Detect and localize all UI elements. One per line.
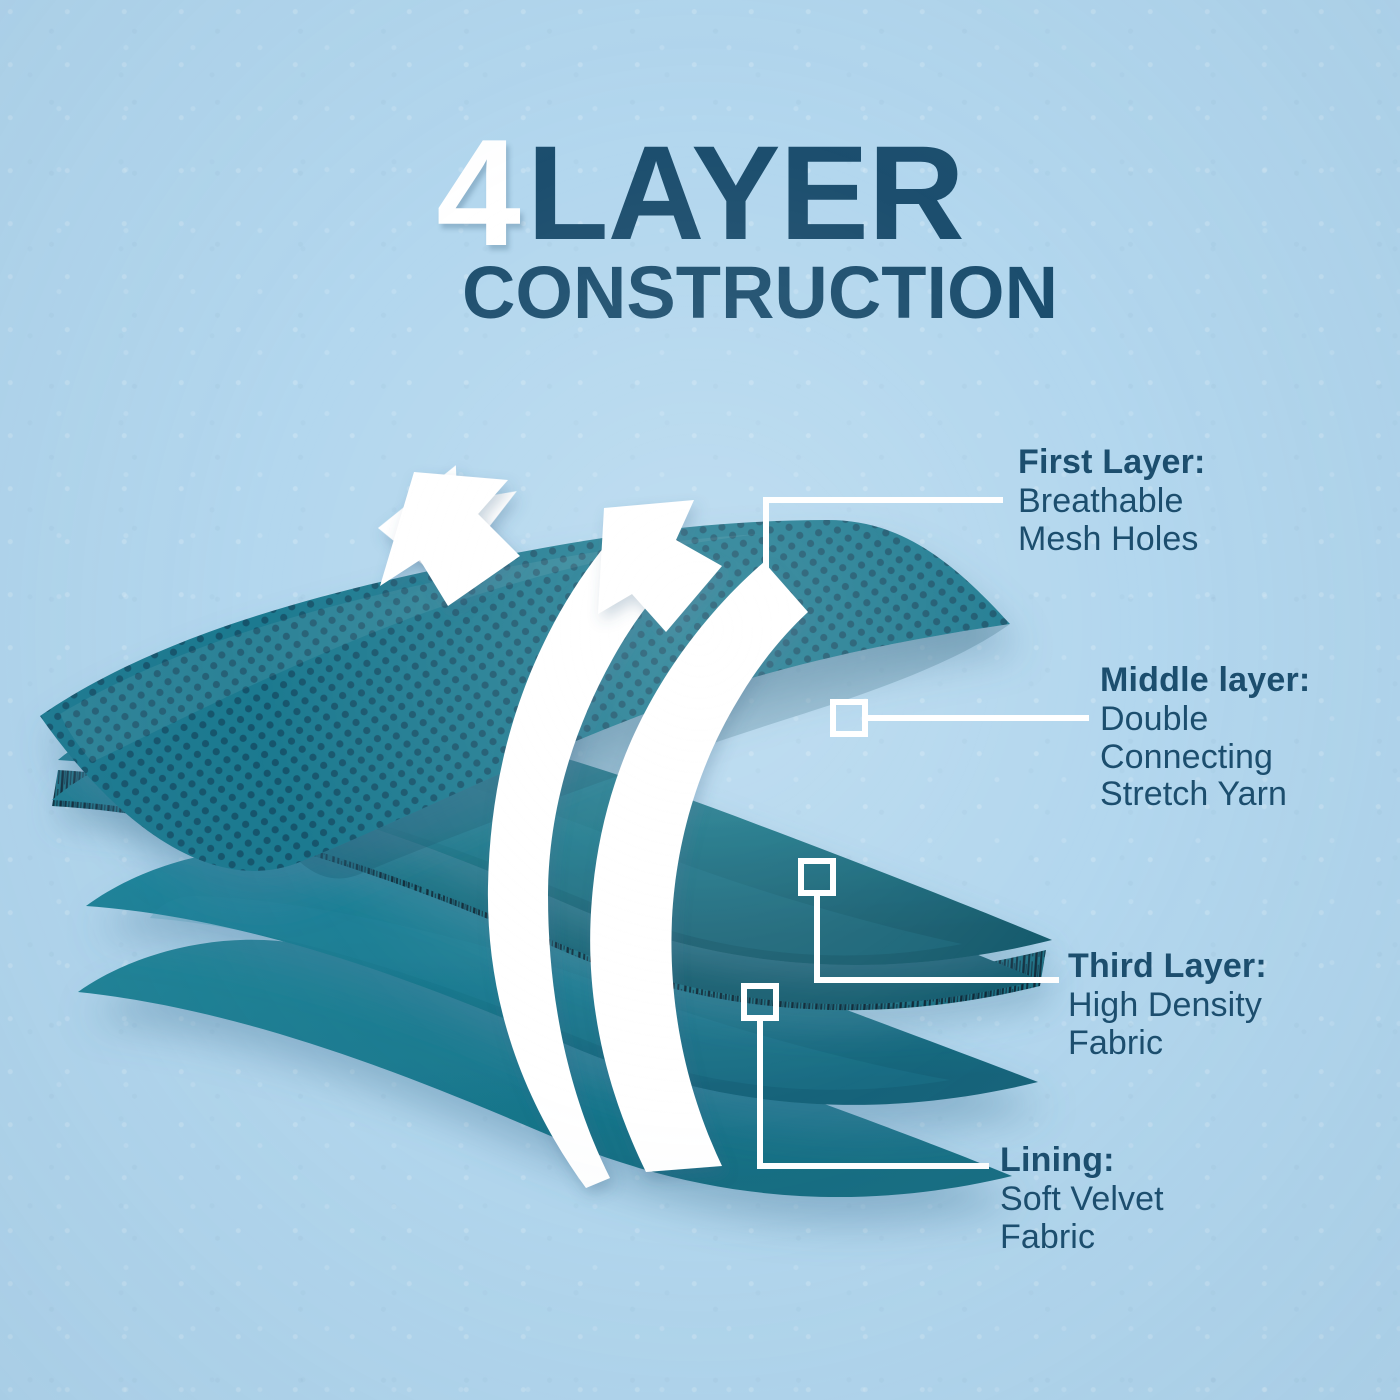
callout-body-third-layer-line-2: Fabric xyxy=(1068,1025,1368,1062)
callout-label-first-layer: First Layer: Breathable Mesh Holes xyxy=(1018,444,1318,558)
callout-body-middle-layer-line-2: Connecting xyxy=(1100,739,1380,776)
callout-marker-middle-layer xyxy=(833,702,865,734)
callout-body-first-layer-line-2: Mesh Holes xyxy=(1018,521,1318,558)
callout-heading-third-layer: Third Layer: xyxy=(1068,948,1368,985)
callout-body-middle-layer-line-3: Stretch Yarn xyxy=(1100,776,1380,813)
callout-body-lining-line-2: Fabric xyxy=(1000,1219,1300,1256)
callout-body-third-layer-line-1: High Density xyxy=(1068,987,1368,1024)
callout-label-third-layer: Third Layer: High Density Fabric xyxy=(1068,948,1368,1062)
callout-body-middle-layer-line-1: Double xyxy=(1100,701,1380,738)
callout-label-middle-layer: Middle layer: Double Connecting Stretch … xyxy=(1100,662,1380,814)
callout-body-first-layer-line-1: Breathable xyxy=(1018,483,1318,520)
callout-body-lining-line-1: Soft Velvet xyxy=(1000,1181,1300,1218)
infographic-canvas: 4LAYER CONSTRUCTION xyxy=(0,0,1400,1400)
callout-label-lining: Lining: Soft Velvet Fabric xyxy=(1000,1142,1300,1256)
callout-heading-middle-layer: Middle layer: xyxy=(1100,662,1380,699)
callout-heading-first-layer: First Layer: xyxy=(1018,444,1318,481)
callout-heading-lining: Lining: xyxy=(1000,1142,1300,1179)
